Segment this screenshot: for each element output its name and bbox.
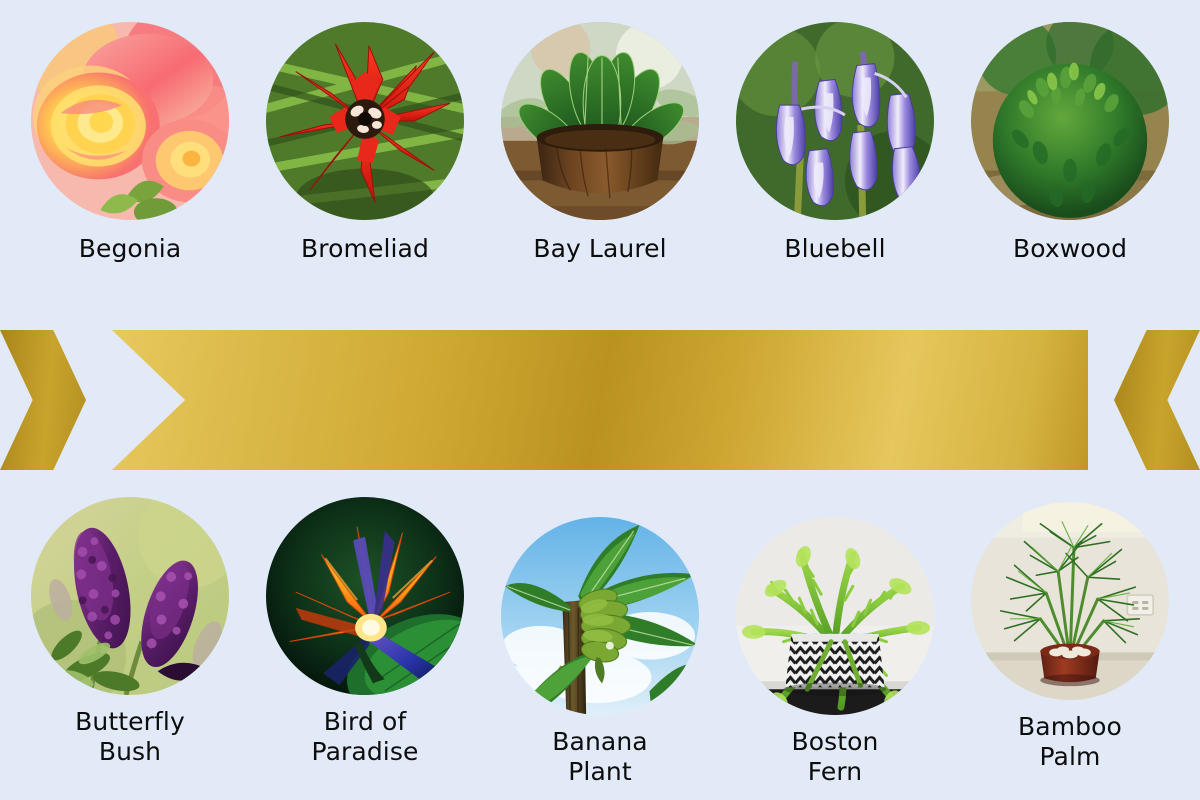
plant-card-bird-of-paradise[interactable]: Bird of Paradise (257, 497, 473, 787)
plant-card-butterfly-bush[interactable]: Butterfly Bush (22, 497, 238, 787)
plant-card-bromeliad[interactable]: Bromeliad (257, 22, 473, 264)
title-banner: Plants That Start With B (0, 330, 1200, 470)
plant-label: Boxwood (1013, 234, 1127, 264)
bay-laurel-photo (501, 22, 699, 220)
plant-card-bluebell[interactable]: Bluebell (727, 22, 943, 264)
butterfly-bush-photo (31, 497, 229, 695)
plant-label: Boston Fern (791, 727, 878, 787)
plant-card-bay-laurel[interactable]: Bay Laurel (492, 22, 708, 264)
bluebell-photo (736, 22, 934, 220)
banana-plant-photo (501, 517, 699, 715)
bromeliad-photo (266, 22, 464, 220)
plant-row-bottom: Butterfly Bush (0, 497, 1200, 787)
boxwood-photo (971, 22, 1169, 220)
plant-label: Begonia (79, 234, 182, 264)
banner-chevron-left-icon (0, 330, 86, 470)
plant-card-boxwood[interactable]: Boxwood (962, 22, 1178, 264)
plant-label: Banana Plant (552, 727, 647, 787)
plant-label: Butterfly Bush (75, 707, 185, 767)
page-title: Plants That Start With (237, 364, 880, 437)
plant-card-boston-fern[interactable]: Boston Fern (727, 497, 943, 787)
plant-label: Bluebell (784, 234, 885, 264)
plant-label: Bird of Paradise (312, 707, 419, 767)
banner-letter: B (934, 356, 1007, 452)
banner-ribbon: Plants That Start With B (112, 330, 1088, 470)
plant-card-banana-plant[interactable]: Banana Plant (492, 497, 708, 787)
bamboo-palm-photo (971, 502, 1169, 700)
banner-chevron-right-icon (1114, 330, 1200, 470)
plant-label: Bay Laurel (533, 234, 666, 264)
boston-fern-photo (736, 517, 934, 715)
begonia-photo (31, 22, 229, 220)
bird-of-paradise-photo (266, 497, 464, 695)
plant-label: Bromeliad (301, 234, 429, 264)
plant-card-begonia[interactable]: Begonia (22, 22, 238, 264)
plant-card-bamboo-palm[interactable]: Bamboo Palm (962, 497, 1178, 787)
plant-label: Bamboo Palm (1018, 712, 1122, 772)
infographic-board: Begonia (0, 0, 1200, 800)
plant-row-top: Begonia (0, 22, 1200, 264)
